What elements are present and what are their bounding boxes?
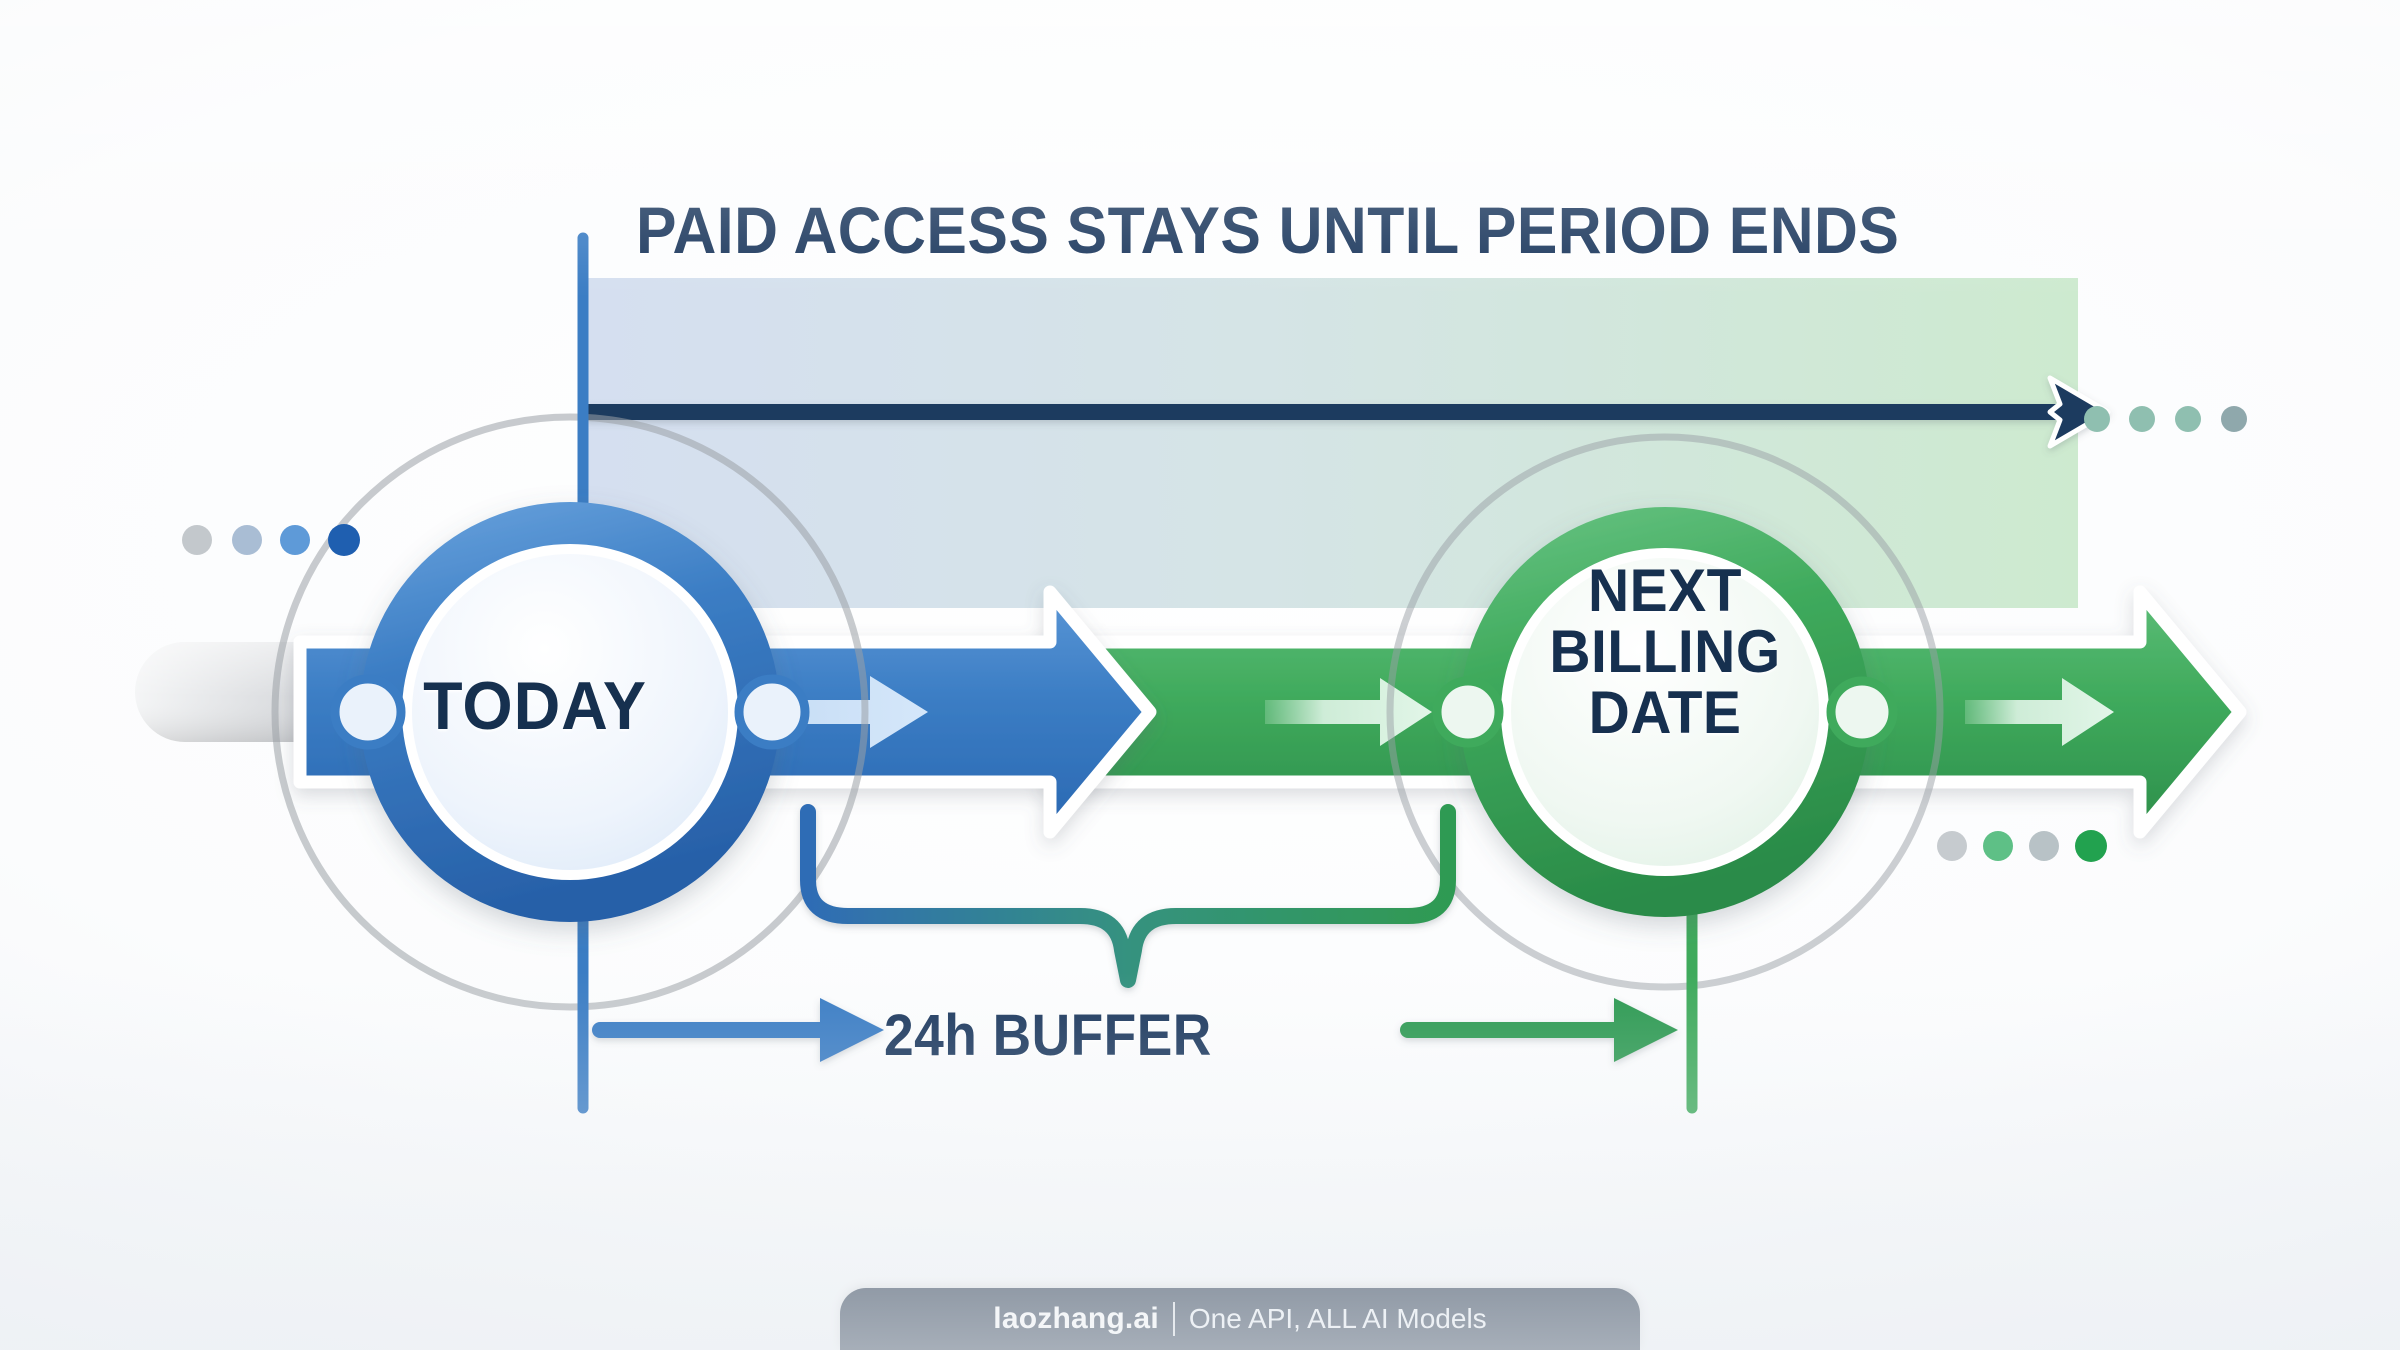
buffer-brace [808,812,1448,980]
buffer-left-arrow [592,998,884,1062]
watermark-tagline: One API, ALL AI Models [1189,1303,1487,1335]
watermark-bar: laozhang.ai One API, ALL AI Models [840,1288,1640,1350]
buffer-right-arrow [1400,998,1678,1062]
diagram-canvas: PAID ACCESS STAYS UNTIL PERIOD ENDS TODA… [0,0,2400,1350]
watermark-brand: laozhang.ai [993,1302,1159,1336]
nbd-label-line-1: NEXT [1508,560,1822,621]
dots-bottom-right [1937,830,2107,862]
nbd-label-line-2: BILLING [1508,621,1822,682]
buffer-label: 24h BUFFER [884,1002,1212,1069]
dots-left [182,524,360,556]
banner-label: PAID ACCESS STAYS UNTIL PERIOD ENDS [636,192,1899,268]
next-billing-date-label: NEXT BILLING DATE [1508,560,1822,744]
nbd-label-line-3: DATE [1508,682,1822,743]
banner-background [585,278,2078,608]
today-label: TODAY [378,672,692,741]
watermark-divider [1173,1302,1175,1336]
today-label-line-1: TODAY [378,672,692,741]
